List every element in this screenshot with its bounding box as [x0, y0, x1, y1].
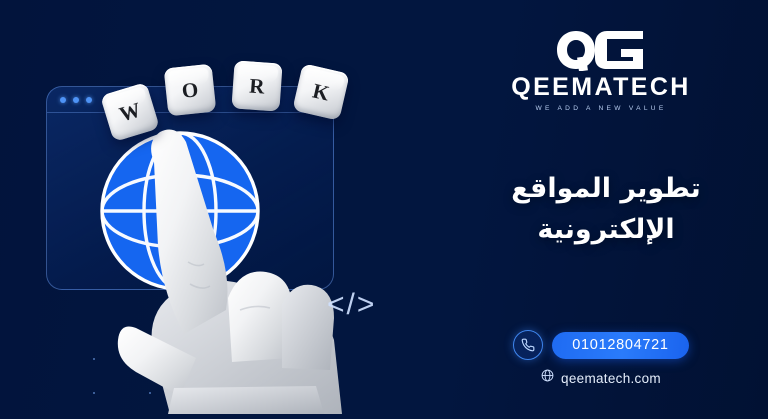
headline-line-1: تطوير المواقع: [478, 168, 734, 209]
brand-tagline: WE ADD A NEW VALUE: [468, 105, 734, 112]
promo-banner: W O R K </> QEEMATECH WE ADD A NEW VALUE…: [0, 0, 768, 419]
brand-logo: QEEMATECH WE ADD A NEW VALUE: [468, 28, 734, 112]
globe-icon: [541, 369, 554, 387]
brand-name: QEEMATECH: [468, 75, 734, 100]
keycap-o[interactable]: O: [164, 64, 217, 117]
website-url[interactable]: qeematech.com: [561, 371, 661, 386]
keycap-r[interactable]: R: [231, 60, 282, 111]
pointing-hand-icon: [110, 96, 342, 414]
phone-number[interactable]: 01012804721: [552, 332, 688, 359]
traffic-light-dot-1: [60, 97, 66, 103]
phone-row[interactable]: 01012804721: [513, 330, 688, 360]
phone-icon[interactable]: [513, 330, 543, 360]
right-content-panel: QEEMATECH WE ADD A NEW VALUE تطوير الموا…: [468, 0, 768, 419]
traffic-light-dot-2: [73, 97, 79, 103]
website-row[interactable]: qeematech.com: [541, 369, 661, 387]
headline-line-2: الإلكترونية: [478, 209, 734, 250]
qg-monogram-icon: [468, 28, 734, 72]
contact-block: 01012804721 qeematech.com: [468, 330, 734, 387]
page-title: تطوير المواقع الإلكترونية: [478, 168, 734, 250]
traffic-light-dot-3: [86, 97, 92, 103]
code-brackets-icon: </>: [327, 288, 376, 322]
